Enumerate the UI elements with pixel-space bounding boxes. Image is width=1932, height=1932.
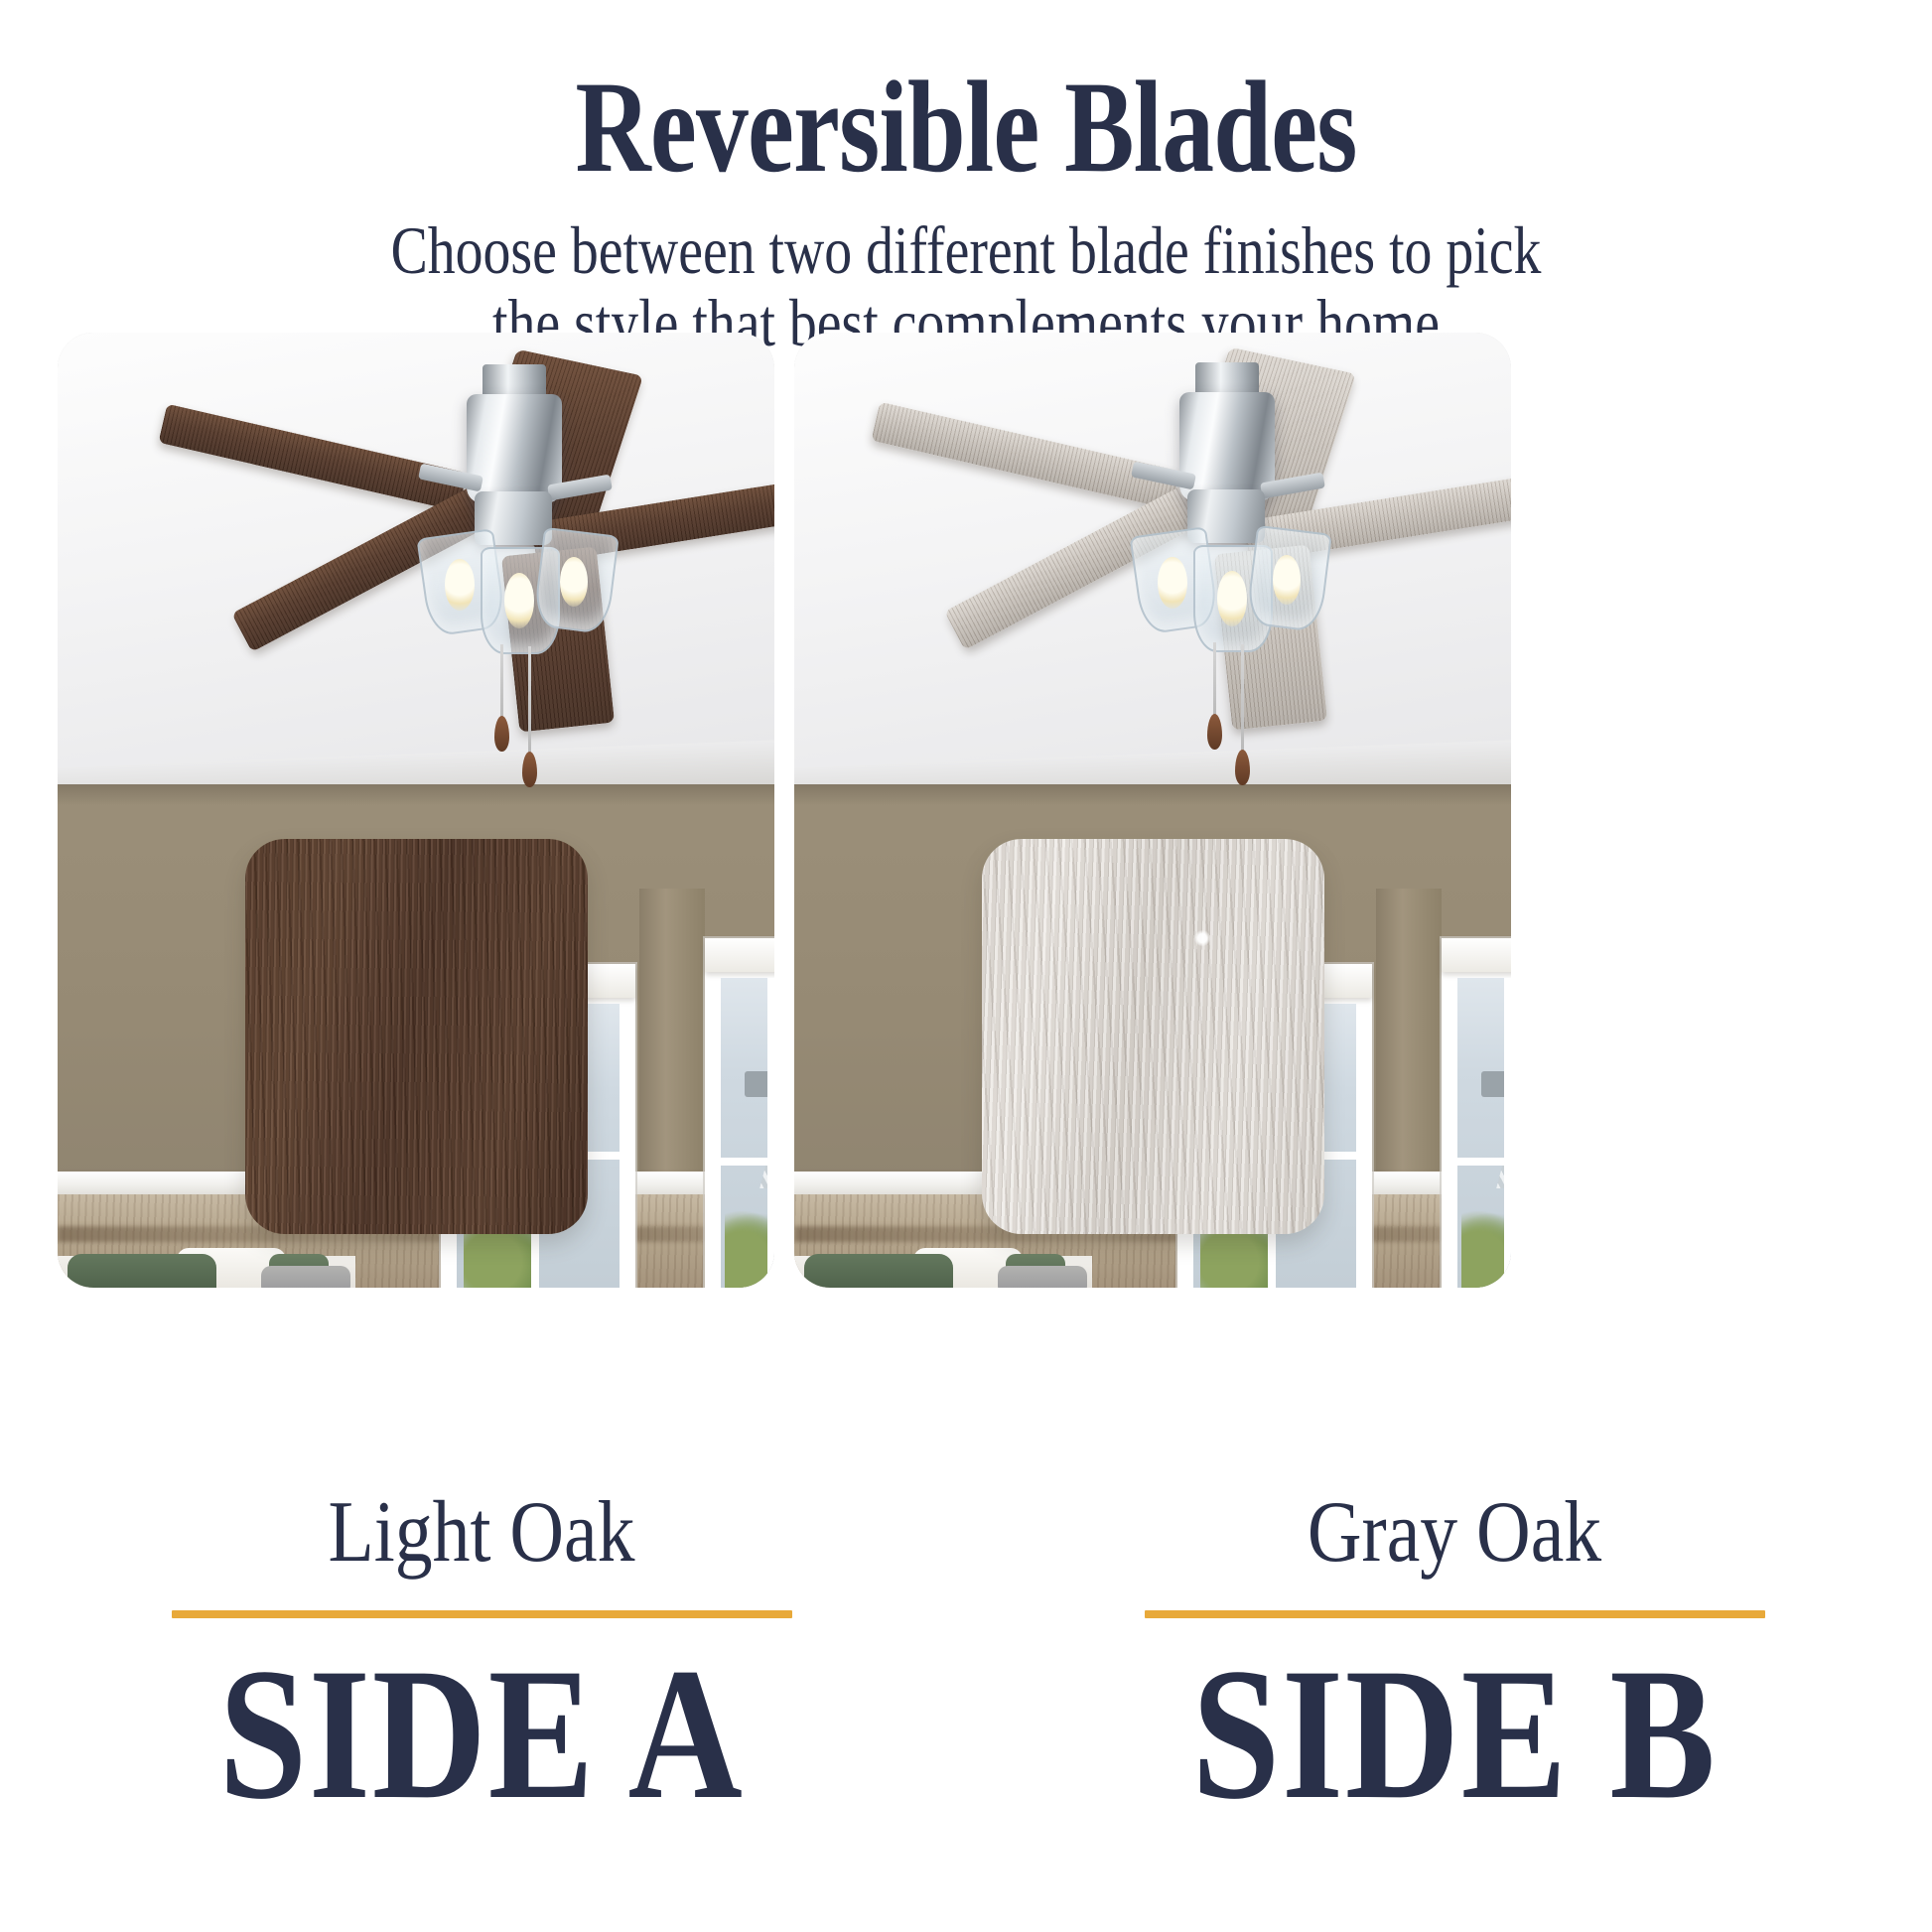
window-right [705,938,774,1288]
roof-vent [1481,1071,1507,1097]
dark-walnut-wood-swatch [245,839,588,1234]
ceiling-fan-icon [316,352,733,730]
infographic-canvas: Reversible Blades Choose between two dif… [0,0,1932,1932]
pillow-green [804,1254,953,1288]
window-glass [721,978,774,1288]
pull-chain [1241,644,1244,754]
gold-divider-rule [1145,1610,1765,1618]
gray-oak-wood-swatch [982,839,1324,1234]
light-bulb [560,557,588,607]
window-casing [705,938,774,972]
side-label: SIDE B [1096,1640,1813,1829]
light-bulb [504,573,534,628]
caption-side-a: Light Oak SIDE A [55,1489,908,1829]
wall-shadow [58,784,774,806]
window-mullion-horizontal [721,1158,774,1166]
ceiling-fan-icon [1029,350,1455,736]
swatch-highlight [1194,930,1210,946]
window-casing [1442,938,1511,972]
page-title: Reversible Blades [194,0,1739,193]
light-bulb [1273,555,1301,605]
wall-shadow [794,784,1511,806]
window-right [1442,938,1511,1288]
pillow-gray [261,1266,350,1288]
pull-chain [500,644,503,720]
light-bulb [1158,557,1187,609]
window-mullion-vertical [1504,978,1511,1288]
finish-name-label: Light Oak [114,1489,849,1577]
pull-chain [1213,642,1216,718]
window-mullion-vertical [767,978,774,1288]
window-glass [1457,978,1511,1288]
pull-chain-knob [494,716,509,752]
pull-chain-knob [522,752,537,787]
roof-vent [745,1071,770,1097]
pull-chain-knob [1235,750,1250,785]
caption-side-b: Gray Oak SIDE B [1028,1489,1881,1829]
pull-chain [528,646,531,756]
side-label: SIDE A [123,1640,840,1829]
foliage [1461,1194,1504,1288]
foliage [725,1194,767,1288]
gold-divider-rule [172,1610,792,1618]
pillow-green [68,1254,216,1288]
light-bulb [445,559,475,611]
header: Reversible Blades Choose between two dif… [0,0,1932,359]
pillow-gray [998,1266,1087,1288]
finish-name-label: Gray Oak [1087,1489,1822,1577]
window-mullion-horizontal [1457,1158,1511,1166]
subtitle-line-1: Choose between two different blade finis… [174,193,1758,287]
light-bulb [1217,571,1247,626]
pull-chain-knob [1207,714,1222,750]
